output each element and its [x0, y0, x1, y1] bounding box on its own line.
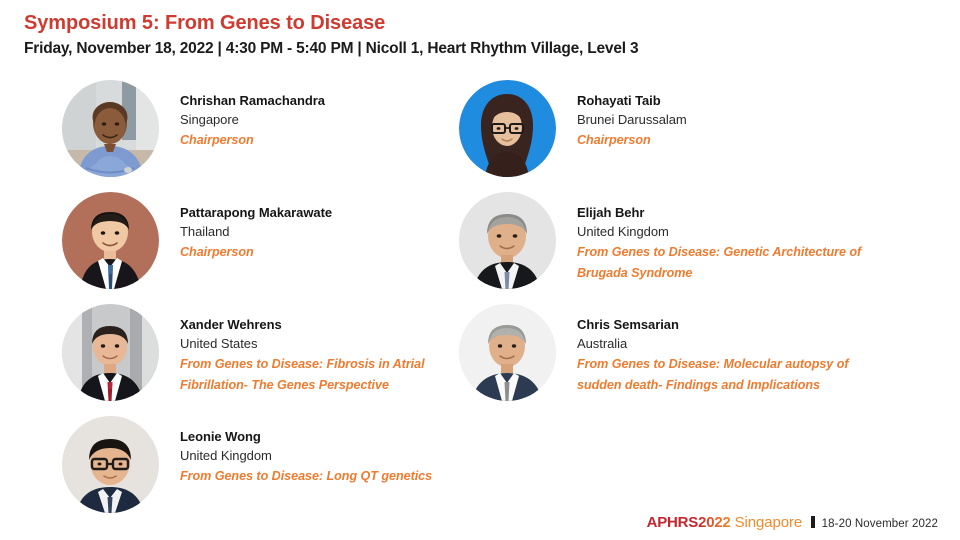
speaker-card[interactable]: Elijah Behr United Kingdom From Genes to…	[459, 192, 879, 290]
avatar-xander-wehrens	[62, 304, 159, 401]
avatar-pattarapong-makarawate	[62, 192, 159, 289]
brand-aphrs: APHRS	[647, 514, 699, 531]
speaker-info: Chris Semsarian Australia From Genes to …	[556, 304, 879, 395]
speaker-card[interactable]: Xander Wehrens United States From Genes …	[62, 304, 482, 402]
speaker-country: United States	[180, 334, 482, 354]
speaker-country: Thailand	[180, 222, 482, 242]
speaker-info: Rohayati Taib Brunei Darussalam Chairper…	[556, 80, 879, 151]
speaker-name: Rohayati Taib	[577, 91, 879, 110]
speaker-role: From Genes to Disease: Fibrosis in Atria…	[180, 354, 482, 395]
brand-city: Singapore	[735, 514, 803, 531]
avatar-rohayati-taib	[459, 80, 556, 177]
speaker-name: Pattarapong Makarawate	[180, 203, 482, 222]
avatar-leonie-wong	[62, 416, 159, 513]
speaker-name: Chris Semsarian	[577, 315, 879, 334]
speaker-name: Leonie Wong	[180, 427, 482, 446]
session-header: Symposium 5: From Genes to Disease Frida…	[24, 10, 936, 60]
session-meta: Friday, November 18, 2022 | 4:30 PM - 5:…	[24, 38, 936, 60]
speaker-country: Australia	[577, 334, 879, 354]
speaker-info: Elijah Behr United Kingdom From Genes to…	[556, 192, 879, 283]
speaker-column-right: Rohayati Taib Brunei Darussalam Chairper…	[459, 80, 879, 416]
speaker-info: Leonie Wong United Kingdom From Genes to…	[159, 416, 482, 487]
speaker-role: Chairperson	[180, 130, 482, 151]
avatar-chrishan-ramachandra	[62, 80, 159, 177]
speaker-role: Chairperson	[577, 130, 879, 151]
speaker-column-left: Chrishan Ramachandra Singapore Chairpers…	[62, 80, 482, 528]
page-title: Symposium 5: From Genes to Disease	[24, 10, 936, 36]
speaker-card[interactable]: Rohayati Taib Brunei Darussalam Chairper…	[459, 80, 879, 178]
speaker-country: United Kingdom	[577, 222, 879, 242]
speaker-grid: Chrishan Ramachandra Singapore Chairpers…	[0, 80, 960, 520]
speaker-card[interactable]: Chrishan Ramachandra Singapore Chairpers…	[62, 80, 482, 178]
speaker-name: Chrishan Ramachandra	[180, 91, 482, 110]
avatar-elijah-behr	[459, 192, 556, 289]
speaker-role: From Genes to Disease: Genetic Architect…	[577, 242, 879, 283]
speaker-name: Xander Wehrens	[180, 315, 482, 334]
speaker-country: Brunei Darussalam	[577, 110, 879, 130]
speaker-card[interactable]: Leonie Wong United Kingdom From Genes to…	[62, 416, 482, 514]
brand-year: 2022	[698, 514, 731, 531]
speaker-card[interactable]: Chris Semsarian Australia From Genes to …	[459, 304, 879, 402]
speaker-name: Elijah Behr	[577, 203, 879, 222]
speaker-role: Chairperson	[180, 242, 482, 263]
speaker-role: From Genes to Disease: Long QT genetics	[180, 466, 482, 487]
avatar-chris-semsarian	[459, 304, 556, 401]
speaker-card[interactable]: Pattarapong Makarawate Thailand Chairper…	[62, 192, 482, 290]
speaker-role: From Genes to Disease: Molecular autopsy…	[577, 354, 879, 395]
footer-branding: APHRS 2022 Singapore 18-20 November 2022	[647, 514, 938, 531]
speaker-info: Chrishan Ramachandra Singapore Chairpers…	[159, 80, 482, 151]
footer-dates: 18-20 November 2022	[822, 518, 938, 530]
speaker-country: United Kingdom	[180, 446, 482, 466]
footer-separator-icon	[811, 516, 815, 528]
speaker-info: Pattarapong Makarawate Thailand Chairper…	[159, 192, 482, 263]
speaker-country: Singapore	[180, 110, 482, 130]
speaker-info: Xander Wehrens United States From Genes …	[159, 304, 482, 395]
